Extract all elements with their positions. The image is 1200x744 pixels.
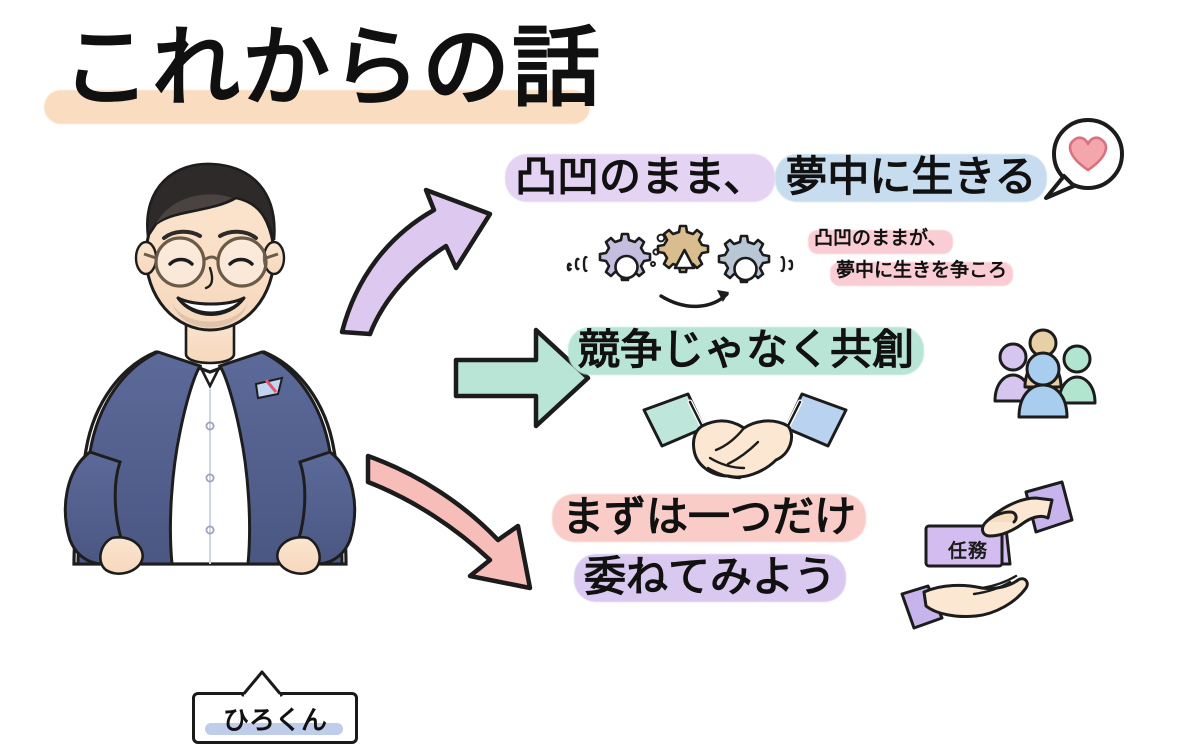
person-illustration-svg [60, 140, 360, 570]
row-3-phrase-2: 委ねてみよう [574, 550, 846, 604]
row-1-phrase-1: 凸凹のまま、 [505, 150, 775, 204]
row-3-phrase-2-text: 委ねてみよう [584, 552, 836, 601]
row-1-note-line-1-text: 凸凹のままが、 [814, 227, 947, 249]
name-tag-label: ひろくん [223, 700, 327, 737]
row-2-phrase-1-text: 競争じゃなく共創 [578, 325, 914, 374]
arrow-up-right-icon [330, 160, 530, 340]
row-2: 競争じゃなく共創 [568, 323, 924, 377]
row-1-note: 凸凹のままが、 夢中に生きを争ころ [808, 222, 1043, 286]
gears-icon [565, 222, 795, 312]
hands-passing-card-icon [898, 478, 1118, 638]
handshake-icon [640, 388, 850, 488]
row-3: まずは一つだけ 委ねてみよう [552, 490, 866, 604]
page-title: これからの話 [62, 16, 622, 126]
row-3-phrase-1-text: まずは一つだけ [562, 492, 856, 541]
row-1-note-line-1: 凸凹のままが、 [808, 222, 953, 254]
row-1: 凸凹のまま、 夢中に生きる [505, 150, 1047, 204]
row-2-phrase-1: 競争じゃなく共創 [568, 323, 924, 377]
row-1-note-line-2: 夢中に生きを争ころ [830, 254, 1013, 286]
row-1-phrase-1-text: 凸凹のまま、 [515, 152, 765, 201]
person-illustration: ひろくん [60, 140, 360, 570]
title-text: これからの話 [62, 16, 602, 120]
row-1-phrase-2-text: 夢中に生きる [785, 152, 1036, 201]
row-1-phrase-2: 夢中に生きる [775, 150, 1046, 204]
row-3-phrase-1: まずは一つだけ [552, 490, 866, 544]
name-tag-pointer-icon [238, 668, 288, 698]
row-1-note-line-2-text: 夢中に生きを争ころ [836, 259, 1007, 281]
people-group-icon [985, 325, 1105, 425]
arrow-down-right-icon [360, 448, 550, 598]
heart-speech-bubble-icon [1034, 112, 1134, 208]
task-card-label: 任務 [948, 536, 988, 563]
slide-canvas: これからの話 [0, 0, 1200, 669]
name-tag: ひろくん [192, 692, 358, 744]
